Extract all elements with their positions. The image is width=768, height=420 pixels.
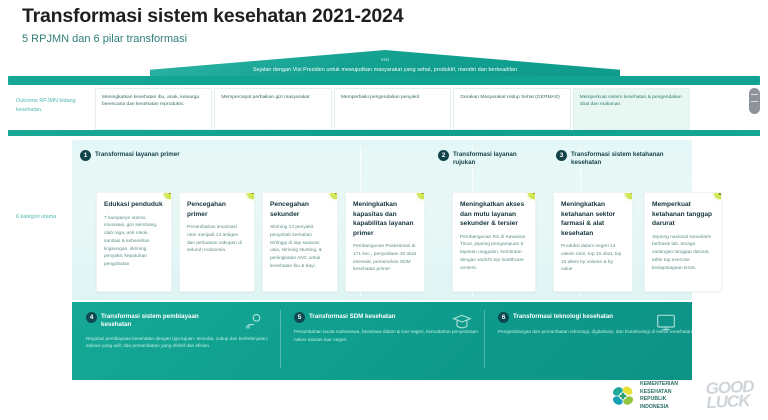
rpjmn-box: Meningkatkan kesehatan ibu, anak, keluar… (95, 88, 212, 130)
goodluck-watermark: GOOD LUCK (705, 380, 754, 411)
rpjmn-baseline-strip (8, 130, 760, 136)
pillar-title: Transformasi sistem ketahanan kesehatan (571, 150, 676, 168)
card-badge: a (164, 192, 172, 199)
scroll-drag-handle[interactable] (749, 88, 760, 114)
ministry-line-2: KESEHATAN (640, 389, 678, 397)
card-body: Skrining 14 penyakit penyebab kematian t… (270, 224, 330, 271)
card-body: Penambahan imunisasi rutin menjadi 14 an… (187, 224, 247, 255)
vision-text: Sejalan dengan Visi Presiden untuk mewuj… (150, 67, 620, 73)
pillar-header-2[interactable]: 2 Transformasi layanan rujukan (438, 150, 538, 168)
card-ketahanan-farmasi-alkes[interactable]: f Meningkatkan ketahanan sektor farmasi … (553, 192, 633, 292)
card-title: Pencegahan primer (187, 200, 247, 219)
rpjmn-box: Memperbaiki pengendalian penyakit (334, 88, 451, 130)
card-badge: e (528, 192, 536, 199)
pillar-body: Regulasi pembiayaan kesehatan dengan tig… (86, 335, 282, 350)
pillar-number: 2 (438, 150, 449, 161)
page-title: Transformasi sistem kesehatan 2021-2024 (22, 6, 768, 27)
pillar-number: 5 (294, 312, 305, 323)
vision-label: Visi (150, 57, 620, 62)
card-pencegahan-primer[interactable]: b Pencegahan primer Penambahan imunisasi… (179, 192, 255, 292)
roof-eaves (8, 76, 760, 85)
card-badge: d (417, 192, 425, 199)
card-pencegahan-sekunder[interactable]: c Pencegahan sekunder Skrining 14 penyak… (262, 192, 338, 292)
money-hand-icon (244, 312, 264, 332)
kemenkes-logo-icon (610, 383, 636, 409)
handle-grip-line (751, 94, 758, 95)
card-title: Meningkatkan ketahanan sektor farmasi & … (561, 200, 625, 238)
card-body: 7 kampanye utama: imunisasi, gizi seimba… (104, 215, 164, 269)
pillar-title: Transformasi SDM kesehatan (309, 312, 414, 321)
sidebar-label-outcome: Outcome RPJMN bidang kesehatan. (16, 97, 88, 114)
header: Transformasi sistem kesehatan 2021-2024 … (0, 0, 768, 52)
pillar-item-6[interactable]: 6 Transformasi teknologi kesehatan Penge… (498, 312, 694, 336)
card-akses-mutu-sekunder-tersier[interactable]: e Meningkatkan akses dan mutu layanan se… (452, 192, 536, 292)
pillar-number: 4 (86, 312, 97, 323)
card-body: Produksi dalam negeri 14 vaksin rutin, t… (561, 243, 625, 274)
card-body: Jejaring nasional surveilans berbasis la… (652, 234, 714, 273)
pillar-header-1[interactable]: 1 Transformasi layanan primer (80, 150, 260, 161)
card-body: Pembangunan RS di Kawasan Timur, jejarin… (460, 234, 528, 273)
ministry-line-1: KEMENTERIAN (640, 381, 678, 389)
card-badge: c (330, 192, 338, 199)
card-body: Pembangunan Puskesmas di 171 kec., penye… (353, 243, 417, 274)
card-title: Meningkatkan kapasitas dan kapabilitas l… (353, 200, 417, 238)
infographic-page: Transformasi sistem kesehatan 2021-2024 … (0, 0, 768, 420)
rpjmn-box: Gerakan Masyarakat Hidup Sehat (GERMAS) (453, 88, 570, 130)
card-title: Edukasi penduduk (104, 200, 164, 210)
pillar-number: 1 (80, 150, 91, 161)
watermark-line-2: LUCK (706, 394, 755, 411)
ministry-name: KEMENTERIAN KESEHATAN REPUBLIK INDONESIA (640, 381, 678, 412)
rpjmn-box: Mempercepat perbaikan gizi masyarakat (214, 88, 331, 130)
card-title: Meningkatkan akses dan mutu layanan seku… (460, 200, 528, 229)
pillar-title: Transformasi layanan primer (95, 150, 180, 159)
ministry-line-4: INDONESIA (640, 404, 678, 412)
card-badge: b (247, 192, 255, 199)
pillar-item-5[interactable]: 5 Transformasi SDM kesehatan Penambahan … (294, 312, 490, 343)
pillar-header-3[interactable]: 3 Transformasi sistem ketahanan kesehata… (556, 150, 676, 168)
pillar-number: 3 (556, 150, 567, 161)
card-edukasi-penduduk[interactable]: a Edukasi penduduk 7 kampanye utama: imu… (96, 192, 172, 292)
monitor-icon (656, 312, 676, 332)
pillar-title: Transformasi sistem pembiayaan kesehatan (101, 312, 211, 330)
vision-roof: Visi Sejalan dengan Visi Presiden untuk … (0, 50, 768, 90)
page-subtitle: 5 RPJMN dan 6 pilar transformasi (22, 33, 768, 45)
footer: KEMENTERIAN KESEHATAN REPUBLIK INDONESIA… (0, 380, 768, 420)
card-title: Pencegahan sekunder (270, 200, 330, 219)
ministry-line-3: REPUBLIK (640, 396, 678, 404)
ministry-logo-block: KEMENTERIAN KESEHATAN REPUBLIK INDONESIA (610, 381, 678, 412)
card-kapasitas-layanan-primer[interactable]: d Meningkatkan kapasitas dan kapabilitas… (345, 192, 425, 292)
handle-grip-line (751, 101, 758, 102)
card-ketahanan-tanggap-darurat[interactable]: g Memperkuat ketahanan tanggap darurat J… (644, 192, 722, 292)
pillar-item-4[interactable]: 4 Transformasi sistem pembiayaan kesehat… (86, 312, 282, 350)
bottom-pillars-band: 4 Transformasi sistem pembiayaan kesehat… (72, 302, 692, 380)
pillar-title: Transformasi layanan rujukan (453, 150, 538, 168)
rpjmn-box: Memperkuat sistem kesehatan & pengendali… (573, 88, 690, 130)
pillar-title: Transformasi teknologi kesehatan (513, 312, 623, 321)
card-badge: f (625, 192, 633, 199)
pillar-number: 6 (498, 312, 509, 323)
graduation-cap-icon (452, 312, 472, 332)
card-badge: g (714, 192, 722, 199)
rpjmn-outcome-row: Meningkatkan kesehatan ibu, anak, keluar… (95, 88, 690, 130)
card-title: Memperkuat ketahanan tanggap darurat (652, 200, 714, 229)
